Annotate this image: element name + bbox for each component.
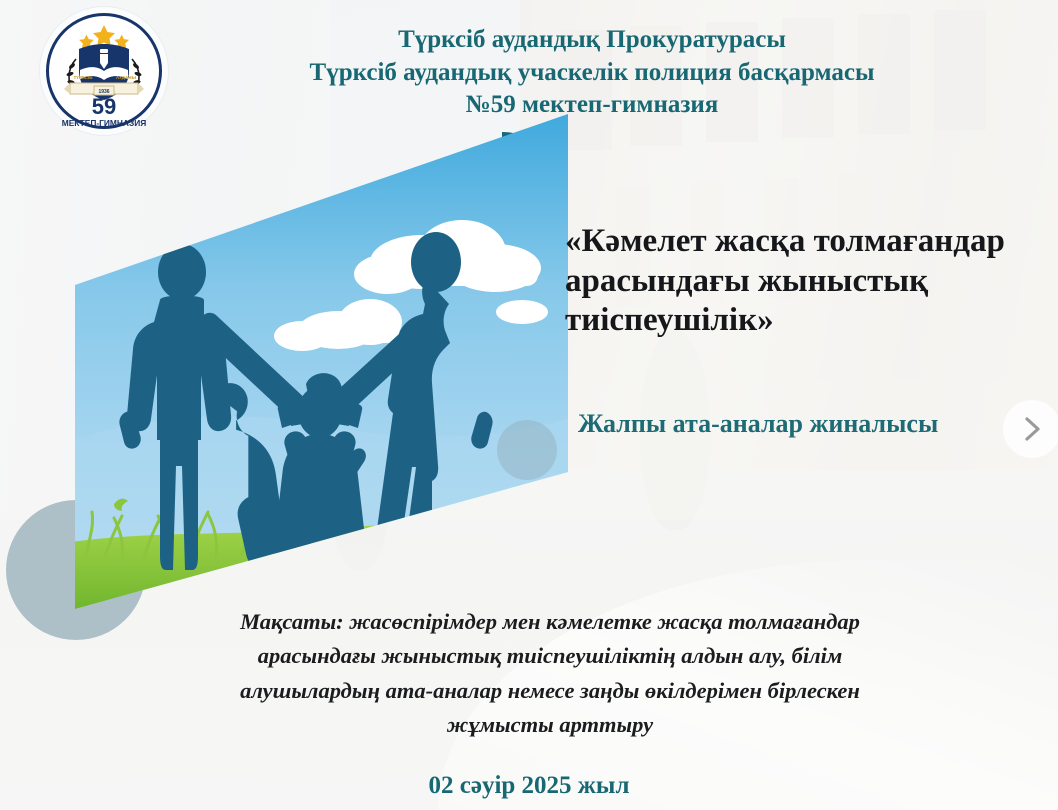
organization-heading: Түрксіб аудандық Прокуратурасы Түрксіб а…	[212, 24, 972, 122]
organization-line-2: Түрксіб аудандық учаскелік полиция басқа…	[212, 57, 972, 90]
chevron-right-icon	[1019, 416, 1045, 442]
logo-school-type: МЕКТЕП-ГИМНАЗИЯ	[62, 118, 147, 128]
logo-school-number: 59	[92, 94, 116, 119]
decorative-circle-small	[497, 420, 557, 480]
page-title: «Кәмелет жасқа толмағандар арасындағы жы…	[565, 222, 1035, 341]
organization-line-1: Түрксіб аудандық Прокуратурасы	[212, 24, 972, 57]
event-date: 02 сәуір 2025 жыл	[0, 772, 1058, 800]
school-logo: 1936 ТҮРКСІБ АУДАНЫ 59 МЕКТЕП-ГИМНАЗИЯ	[40, 7, 168, 135]
logo-banner-right: АУДАНЫ	[116, 75, 137, 80]
logo-banner-left: ТҮРКСІБ	[73, 75, 93, 80]
slide-canvas: 1936 ТҮРКСІБ АУДАНЫ 59 МЕКТЕП-ГИМНАЗИЯ Т…	[0, 0, 1058, 810]
page-subtitle: Жалпы ата-аналар жиналысы	[578, 408, 1048, 439]
goal-paragraph: Мақсаты: жасөспірімдер мен кәмелетке жас…	[190, 605, 910, 743]
next-slide-button[interactable]	[1003, 400, 1058, 458]
organization-line-3: №59 мектеп-гимназия	[212, 89, 972, 122]
